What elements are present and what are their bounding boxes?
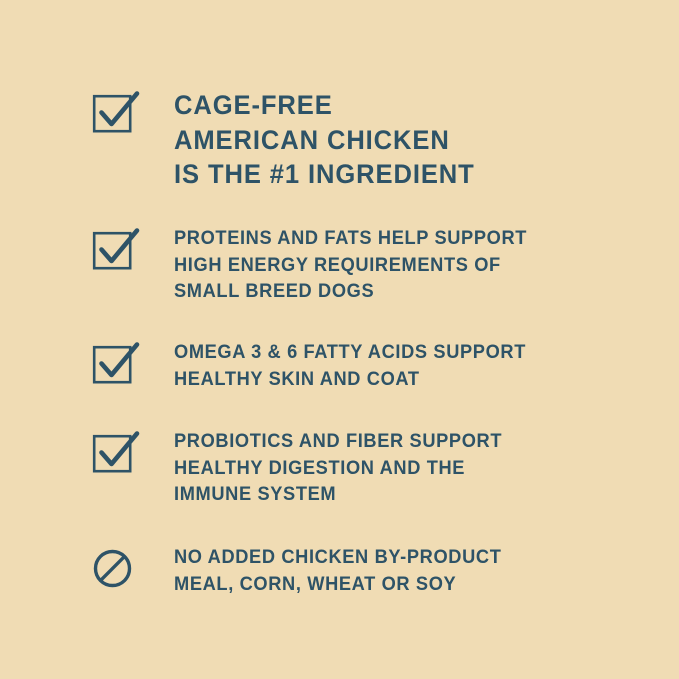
feature-line: PROTEINS AND FATS HELP SUPPORT bbox=[174, 226, 527, 253]
checkbox-checked-icon bbox=[92, 340, 174, 385]
feature-line: HEALTHY SKIN AND COAT bbox=[174, 367, 526, 394]
checkbox-checked-icon bbox=[92, 88, 174, 134]
checkbox-checked-icon bbox=[92, 226, 174, 271]
feature-row: NO ADDED CHICKEN BY-PRODUCT MEAL, CORN, … bbox=[92, 545, 519, 598]
checkbox-checked-icon bbox=[92, 429, 174, 474]
feature-text: NO ADDED CHICKEN BY-PRODUCT MEAL, CORN, … bbox=[174, 545, 519, 598]
feature-line: OMEGA 3 & 6 FATTY ACIDS SUPPORT bbox=[174, 340, 526, 367]
feature-row: OMEGA 3 & 6 FATTY ACIDS SUPPORT HEALTHY … bbox=[92, 340, 545, 393]
feature-line: PROBIOTICS AND FIBER SUPPORT bbox=[174, 429, 502, 456]
feature-text: PROBIOTICS AND FIBER SUPPORT HEALTHY DIG… bbox=[174, 429, 519, 509]
feature-text: CAGE-FREE AMERICAN CHICKEN IS THE #1 ING… bbox=[174, 88, 486, 192]
feature-line: HEALTHY DIGESTION AND THE bbox=[174, 456, 502, 483]
feature-row: CAGE-FREE AMERICAN CHICKEN IS THE #1 ING… bbox=[92, 88, 486, 192]
feature-line: CAGE-FREE bbox=[174, 88, 475, 123]
feature-line: IMMUNE SYSTEM bbox=[174, 482, 502, 509]
feature-row: PROBIOTICS AND FIBER SUPPORT HEALTHY DIG… bbox=[92, 429, 519, 509]
feature-line: HIGH ENERGY REQUIREMENTS OF bbox=[174, 253, 527, 280]
feature-line: SMALL BREED DOGS bbox=[174, 279, 527, 306]
feature-row: PROTEINS AND FATS HELP SUPPORT HIGH ENER… bbox=[92, 226, 546, 306]
feature-line: AMERICAN CHICKEN bbox=[174, 123, 475, 158]
feature-line: IS THE #1 INGREDIENT bbox=[174, 157, 475, 192]
feature-text: PROTEINS AND FATS HELP SUPPORT HIGH ENER… bbox=[174, 226, 546, 306]
feature-text: OMEGA 3 & 6 FATTY ACIDS SUPPORT HEALTHY … bbox=[174, 340, 545, 393]
prohibition-icon bbox=[92, 545, 174, 591]
feature-line: NO ADDED CHICKEN BY-PRODUCT bbox=[174, 545, 501, 572]
feature-list: CAGE-FREE AMERICAN CHICKEN IS THE #1 ING… bbox=[0, 0, 679, 679]
feature-line: MEAL, CORN, WHEAT OR SOY bbox=[174, 572, 501, 599]
